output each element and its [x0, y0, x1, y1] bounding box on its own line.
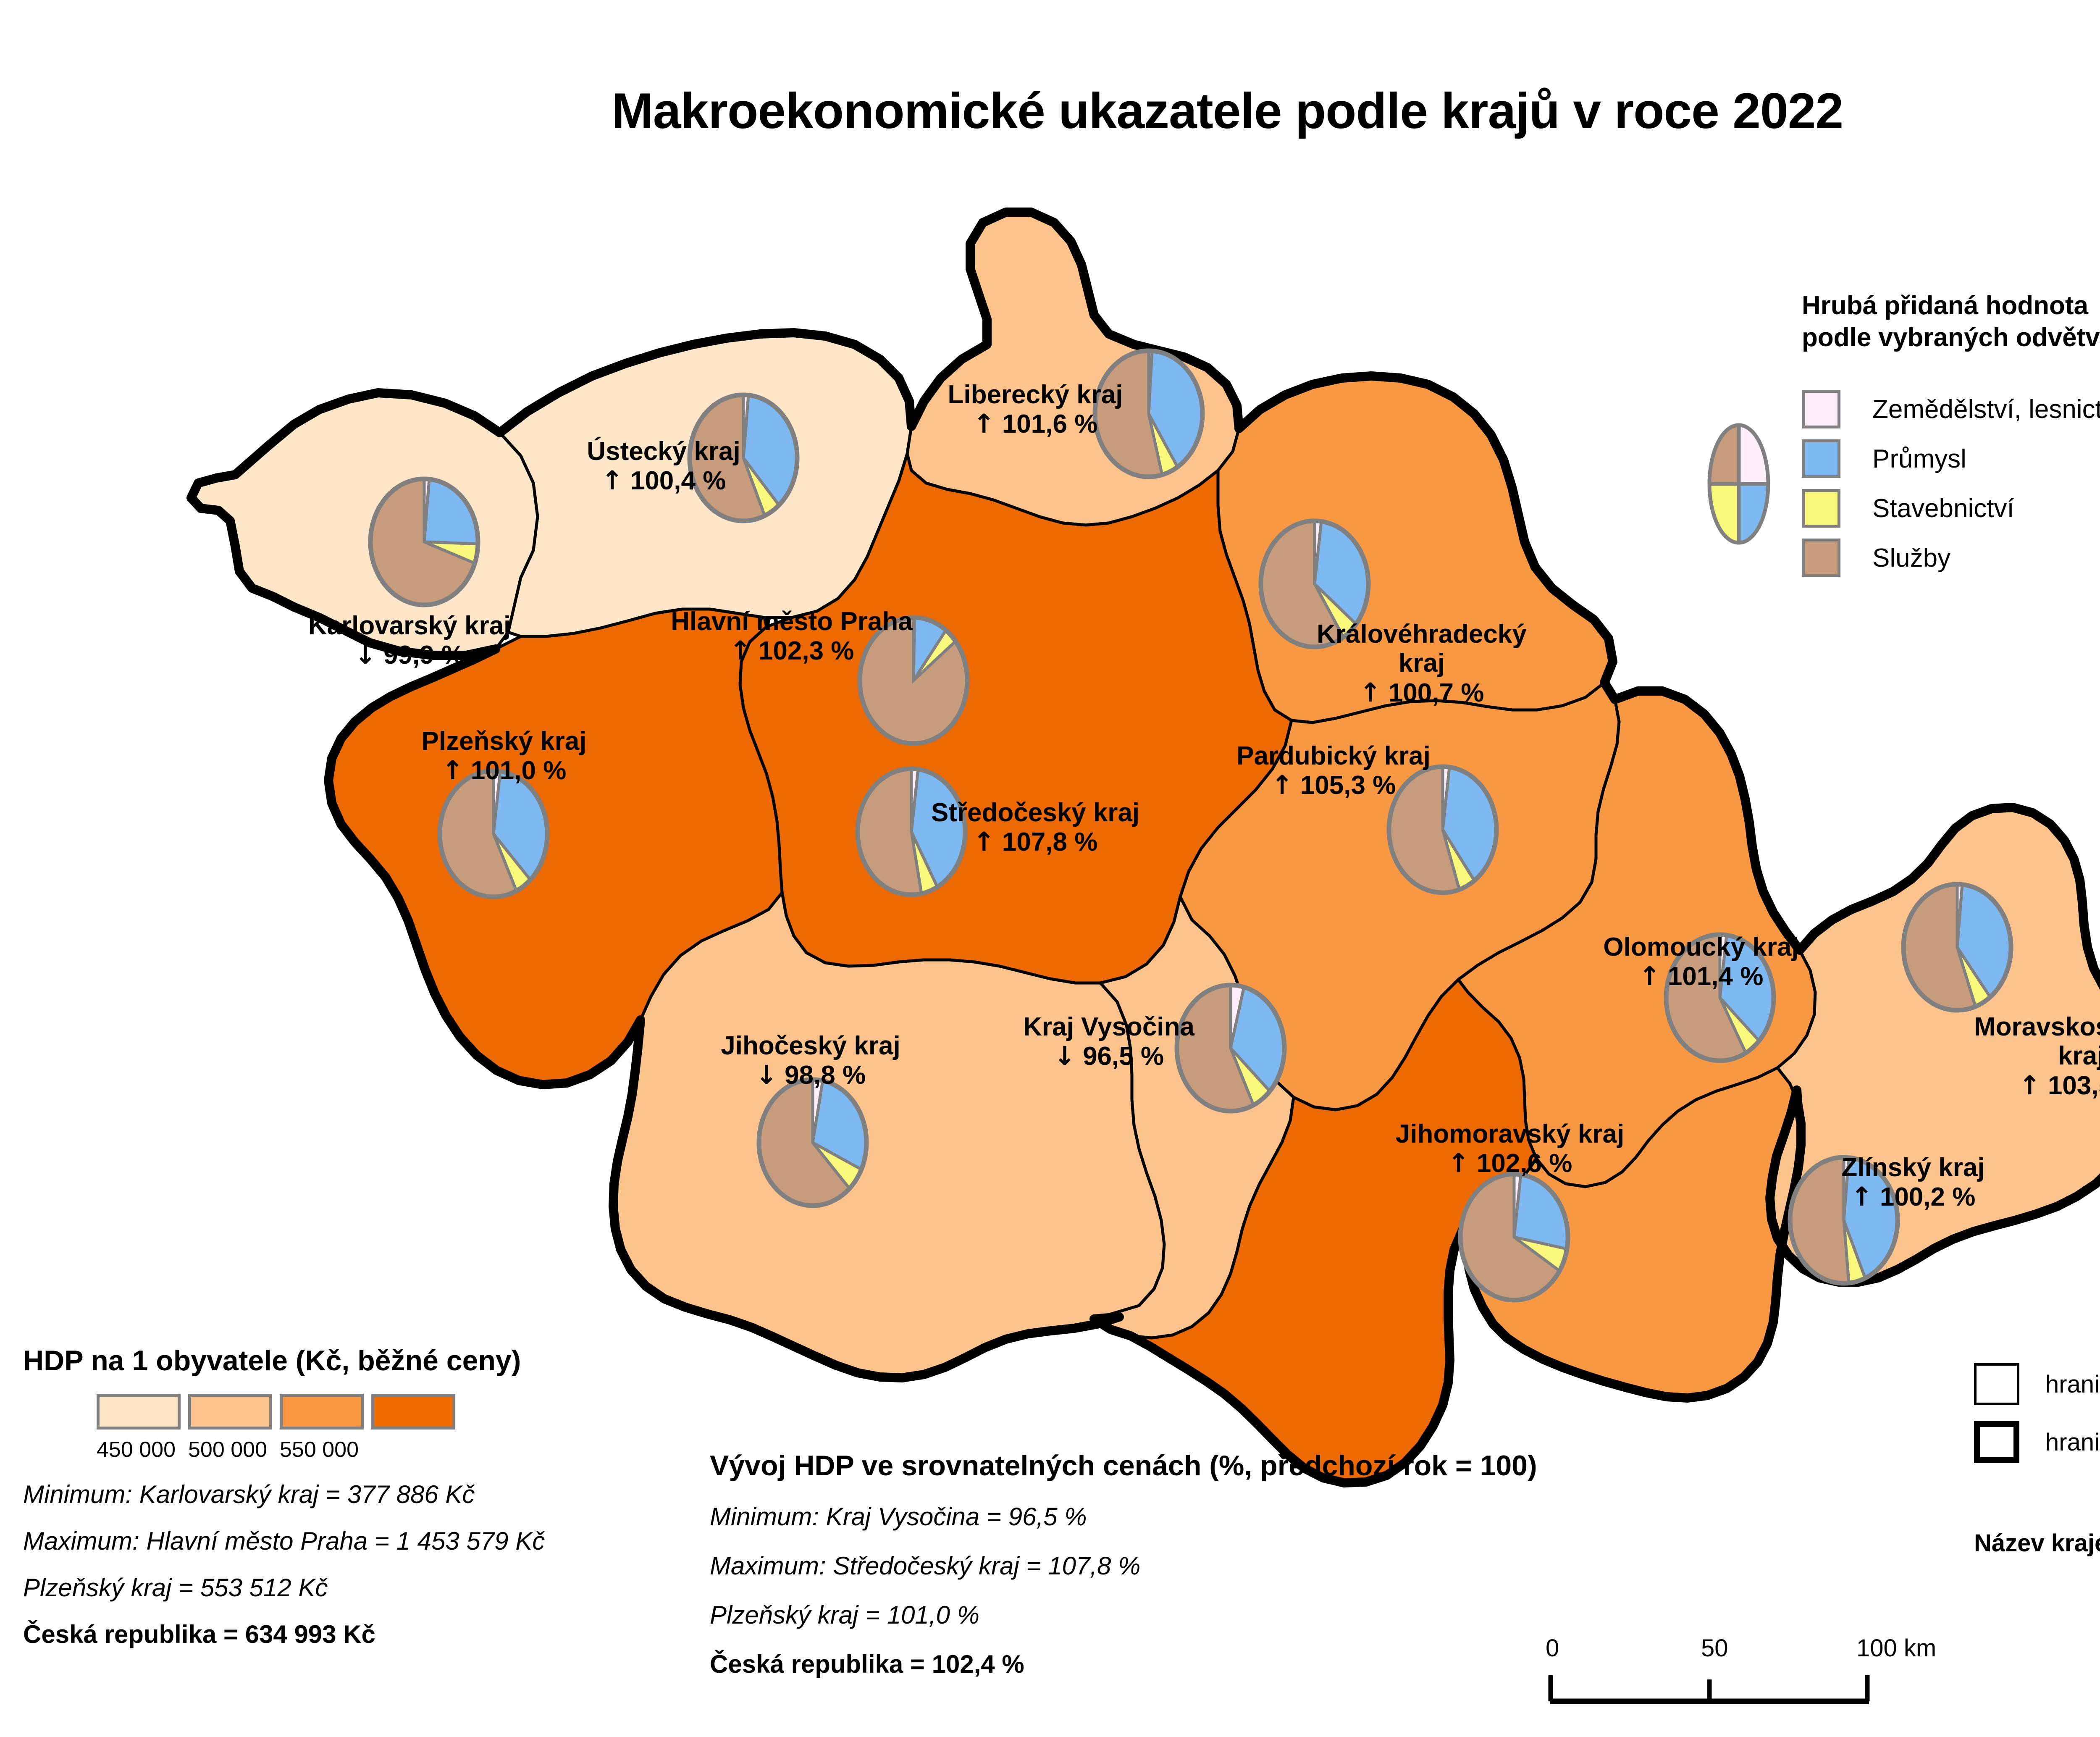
hdp-swatch-2 — [280, 1394, 364, 1430]
pie-chart-plzensky — [440, 771, 547, 897]
region-growth-value-vysocina: 96,5 % — [1076, 1042, 1164, 1071]
hdp-tick-1: 500 000 — [182, 1437, 273, 1462]
region-growth-olomoucky: ↑ 101,4 % — [1603, 962, 1798, 991]
region-growth-value-jihocesky: 98,8 % — [777, 1061, 866, 1090]
region-label-vysocina: Kraj Vysočina↓ 96,5 % — [1023, 1012, 1194, 1071]
state-border-label: hranice státu — [2045, 1428, 2100, 1456]
region-label-kralovehradecky: Královéhradeckýkraj↑ 100,7 % — [1317, 620, 1527, 707]
region-growth-jihomoravsky: ↑ 102,6 % — [1396, 1148, 1625, 1178]
region-name-zlinsky: Zlínský kraj — [1841, 1153, 1984, 1182]
region-name-stredocesky: Středočeský kraj — [931, 798, 1139, 827]
region-name-ustecky: Ústecký kraj — [587, 437, 740, 466]
region-label-moravskoslezsky: Moravskoslezskýkraj↑ 103,5 % — [1974, 1012, 2100, 1100]
arrow-up-icon-kralovehradecky: ↑ — [1360, 677, 1381, 708]
hdp-color-swatches — [97, 1394, 678, 1430]
arrow-up-icon-plzensky: ↑ — [442, 755, 464, 786]
gdp-growth-legend: Vývoj HDP ve srovnatelných cenách (%, př… — [710, 1449, 1508, 1679]
growth-stat-plzensky: Plzeňský kraj = 101,0 % — [710, 1600, 1508, 1629]
region-growth-moravskoslezsky: ↑ 103,5 % — [1974, 1071, 2100, 1100]
gha-legend-items: Zemědělství, lesnictví a rybářstvíPrůmys… — [1802, 384, 2100, 583]
arrow-down-icon-vysocina: ↓ — [1054, 1041, 1076, 1071]
region-growth-pardubicky: ↑ 105,3 % — [1236, 770, 1431, 800]
gha-title-line2: podle vybraných odvětví — [1802, 323, 2100, 352]
growth-stat-minimum: Minimum: Kraj Vysočina = 96,5 % — [710, 1502, 1508, 1531]
region-name-vysocina: Kraj Vysočina — [1023, 1012, 1194, 1041]
hdp-stat-plzensky: Plzeňský kraj = 553 512 Kč — [23, 1573, 678, 1602]
region-growth-value-moravskoslezsky: 103,5 % — [2041, 1071, 2100, 1100]
hdp-legend-title: HDP na 1 obyvatele (Kč, běžné ceny) — [23, 1344, 678, 1377]
arrow-down-icon-karlovarsky: ↓ — [354, 639, 376, 670]
gha-legend-row-2: Stavebnictví — [1802, 484, 2100, 533]
gha-legend-row-0: Zemědělství, lesnictví a rybářství — [1802, 384, 2100, 434]
region-growth-kralovehradecky: ↑ 100,7 % — [1317, 678, 1527, 707]
arrow-up-icon-pardubicky: ↑ — [1271, 770, 1293, 800]
gha-legend-title: Hrubá přidaná hodnota podle vybraných od… — [1802, 290, 2100, 353]
gha-label-0: Zemědělství, lesnictví a rybářství — [1872, 394, 2100, 424]
region-label-jihocesky: Jihočeský kraj↓ 98,8 % — [721, 1031, 900, 1090]
region-name-legend-label: Název kraje — [1974, 1529, 2100, 1557]
region-growth-value-liberecky: 101,6 % — [995, 410, 1098, 439]
hdp-tick-2: 550 000 — [273, 1437, 365, 1462]
region-name-pardubicky: Pardubický kraj — [1236, 741, 1431, 770]
gdp-growth-title: Vývoj HDP ve srovnatelných cenách (%, př… — [710, 1449, 1508, 1482]
region-name-praha: Hlavní město Praha — [671, 607, 912, 636]
region-label-pardubicky: Pardubický kraj↑ 105,3 % — [1236, 741, 1431, 800]
region-label-zlinsky: Zlínský kraj↑ 100,2 % — [1841, 1153, 1984, 1212]
gha-swatch-3 — [1802, 539, 1840, 577]
growth-stat-total: Česká republika = 102,4 % — [710, 1650, 1508, 1679]
region-label-praha: Hlavní město Praha↑ 102,3 % — [671, 607, 912, 666]
region-growth-value-karlovarsky: 99,9 % — [376, 641, 465, 670]
hdp-per-capita-legend: HDP na 1 obyvatele (Kč, běžné ceny) 450 … — [23, 1344, 678, 1649]
pie-chart-jihomoravsky — [1460, 1174, 1568, 1300]
gha-label-3: Služby — [1872, 543, 1950, 573]
region-growth-value-praha: 102,3 % — [751, 636, 854, 665]
region-name-jihocesky: Jihočeský kraj — [721, 1031, 900, 1060]
region-name-liberecky: Liberecký kraj — [948, 380, 1123, 409]
region-name-kralovehradecky-line2: kraj — [1317, 649, 1527, 678]
region-name-plzensky: Plzeňský kraj — [422, 727, 587, 756]
region-growth-value-zlinsky: 100,2 % — [1873, 1183, 1976, 1211]
region-growth-value-olomoucky: 101,4 % — [1661, 962, 1764, 991]
scale-bar-graphic — [1546, 1667, 1890, 1705]
scale-bar-labels: 0 50 100 km — [1546, 1634, 1966, 1667]
gross-value-added-legend: Hrubá přidaná hodnota podle vybraných od… — [1802, 290, 2100, 583]
hdp-swatch-0 — [97, 1394, 181, 1430]
hdp-swatch-1 — [188, 1394, 272, 1430]
hdp-tick-0: 450 000 — [90, 1437, 182, 1462]
pie-chart-moravskoslezsky — [1903, 884, 2011, 1010]
arrow-up-icon-olomoucky: ↑ — [1639, 961, 1661, 991]
region-growth-stredocesky: ↑ 107,8 % — [931, 827, 1139, 857]
region-label-stredocesky: Středočeský kraj↑ 107,8 % — [931, 798, 1139, 857]
region-name-karlovarsky: Karlovarský kraj — [308, 611, 511, 640]
kraj-border-swatch — [1974, 1363, 2019, 1405]
region-name-kralovehradecky-line1: Královéhradecký — [1317, 620, 1527, 649]
kraj-border-label: hranice kraje — [2045, 1370, 2100, 1398]
hdp-stat-minimum: Minimum: Karlovarský kraj = 377 886 Kč — [23, 1480, 678, 1509]
scale-bar: 0 50 100 km — [1546, 1634, 1966, 1705]
gha-swatch-0 — [1802, 390, 1840, 428]
region-name-moravskoslezsky-line2: kraj — [1974, 1041, 2100, 1070]
region-growth-karlovarsky: ↓ 99,9 % — [308, 640, 511, 670]
region-growth-value-kralovehradecky: 100,7 % — [1381, 678, 1484, 707]
gha-swatch-1 — [1802, 439, 1840, 478]
gha-label-2: Stavebnictví — [1872, 494, 2014, 523]
boundary-legend-row-stat: hranice státu — [1974, 1421, 2100, 1463]
boundary-legend: hranice kraje hranice státu — [1974, 1363, 2100, 1479]
growth-stat-maximum: Maximum: Středočeský kraj = 107,8 % — [710, 1551, 1508, 1580]
region-growth-jihocesky: ↓ 98,8 % — [721, 1060, 900, 1090]
hdp-tick-labels: 450 000500 000550 000 — [90, 1437, 678, 1462]
gha-legend-row-3: Služby — [1802, 533, 2100, 583]
arrow-down-icon-jihocesky: ↓ — [756, 1059, 777, 1090]
region-growth-value-pardubicky: 105,3 % — [1293, 771, 1396, 800]
gha-key-pie-icon — [1693, 421, 1785, 547]
region-growth-vysocina: ↓ 96,5 % — [1023, 1041, 1194, 1071]
gha-label-1: Průmysl — [1872, 444, 1966, 474]
region-growth-ustecky: ↑ 100,4 % — [587, 466, 740, 495]
region-growth-value-ustecky: 100,4 % — [623, 466, 726, 495]
scale-tick-100: 100 km — [1856, 1634, 1936, 1662]
arrow-up-icon-stredocesky: ↑ — [973, 826, 995, 857]
arrow-up-icon-zlinsky: ↑ — [1851, 1181, 1873, 1212]
arrow-up-icon-moravskoslezsky: ↑ — [2019, 1070, 2041, 1101]
hdp-stat-maximum: Maximum: Hlavní město Praha = 1 453 579 … — [23, 1527, 678, 1556]
arrow-up-icon-jihomoravsky: ↑ — [1448, 1148, 1470, 1178]
region-growth-plzensky: ↑ 101,0 % — [422, 756, 587, 785]
hdp-stat-total: Česká republika = 634 993 Kč — [23, 1620, 678, 1649]
region-label-liberecky: Liberecký kraj↑ 101,6 % — [948, 380, 1123, 439]
gha-legend-row-1: Průmysl — [1802, 434, 2100, 484]
region-label-ustecky: Ústecký kraj↑ 100,4 % — [587, 437, 740, 496]
region-growth-value-stredocesky: 107,8 % — [995, 828, 1098, 857]
pie-chart-jihocesky — [759, 1080, 866, 1206]
region-label-jihomoravsky: Jihomoravský kraj↑ 102,6 % — [1396, 1119, 1625, 1178]
state-border-swatch — [1974, 1421, 2019, 1463]
region-label-karlovarsky: Karlovarský kraj↓ 99,9 % — [308, 611, 511, 670]
gha-title-line1: Hrubá přidaná hodnota — [1802, 291, 2088, 320]
boundary-legend-row-kraj: hranice kraje — [1974, 1363, 2100, 1405]
gha-swatch-2 — [1802, 489, 1840, 528]
hdp-swatch-3 — [371, 1394, 455, 1430]
region-growth-liberecky: ↑ 101,6 % — [948, 409, 1123, 439]
region-growth-zlinsky: ↑ 100,2 % — [1841, 1182, 1984, 1211]
region-label-olomoucky: Olomoucký kraj↑ 101,4 % — [1603, 933, 1798, 991]
region-name-olomoucky: Olomoucký kraj — [1603, 933, 1798, 962]
region-label-plzensky: Plzeňský kraj↑ 101,0 % — [422, 727, 587, 786]
scale-tick-50: 50 — [1701, 1634, 1728, 1662]
region-name-moravskoslezsky-line1: Moravskoslezský — [1974, 1012, 2100, 1041]
region-growth-praha: ↑ 102,3 % — [671, 636, 912, 665]
arrow-up-icon-praha: ↑ — [730, 635, 751, 666]
arrow-up-icon-liberecky: ↑ — [973, 408, 995, 439]
scale-tick-0: 0 — [1546, 1634, 1559, 1662]
arrow-up-icon-ustecky: ↑ — [601, 465, 623, 496]
region-growth-value-plzensky: 101,0 % — [464, 756, 567, 785]
region-growth-value-jihomoravsky: 102,6 % — [1470, 1149, 1572, 1178]
region-name-jihomoravsky: Jihomoravský kraj — [1396, 1119, 1625, 1148]
pie-chart-karlovarsky — [370, 479, 478, 605]
